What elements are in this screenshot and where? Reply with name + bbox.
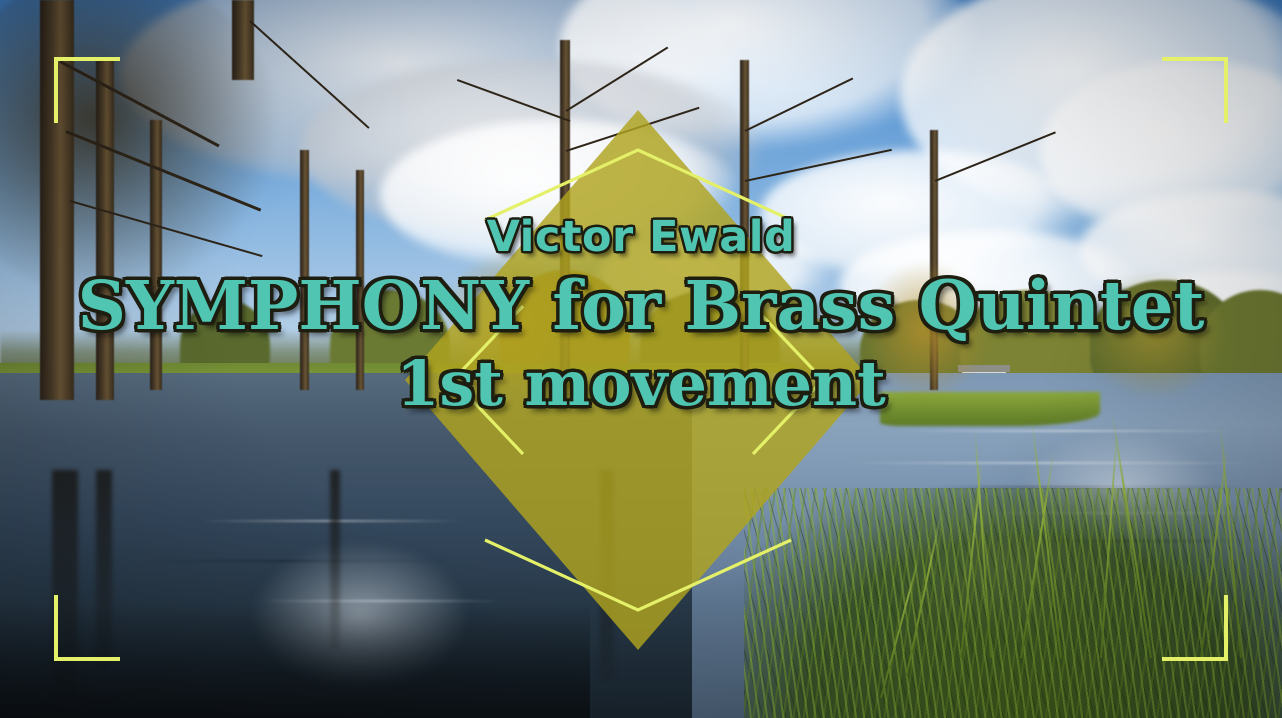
corner-bracket-bottom-left — [54, 595, 120, 661]
tree-trunk — [356, 170, 364, 390]
corner-bracket-top-left — [54, 57, 120, 123]
corner-bracket-bottom-right — [1162, 595, 1228, 661]
water-ripple — [900, 430, 1240, 432]
autumn-foliage — [1080, 270, 1230, 400]
autumn-foliage — [860, 260, 990, 400]
tree-trunk — [232, 0, 254, 80]
tree-trunk — [150, 120, 162, 390]
title-slide: Victor Ewald SYMPHONY for Brass Quintet … — [0, 0, 1282, 718]
tree-trunk — [300, 150, 309, 390]
corner-bracket-top-right — [1162, 57, 1228, 123]
